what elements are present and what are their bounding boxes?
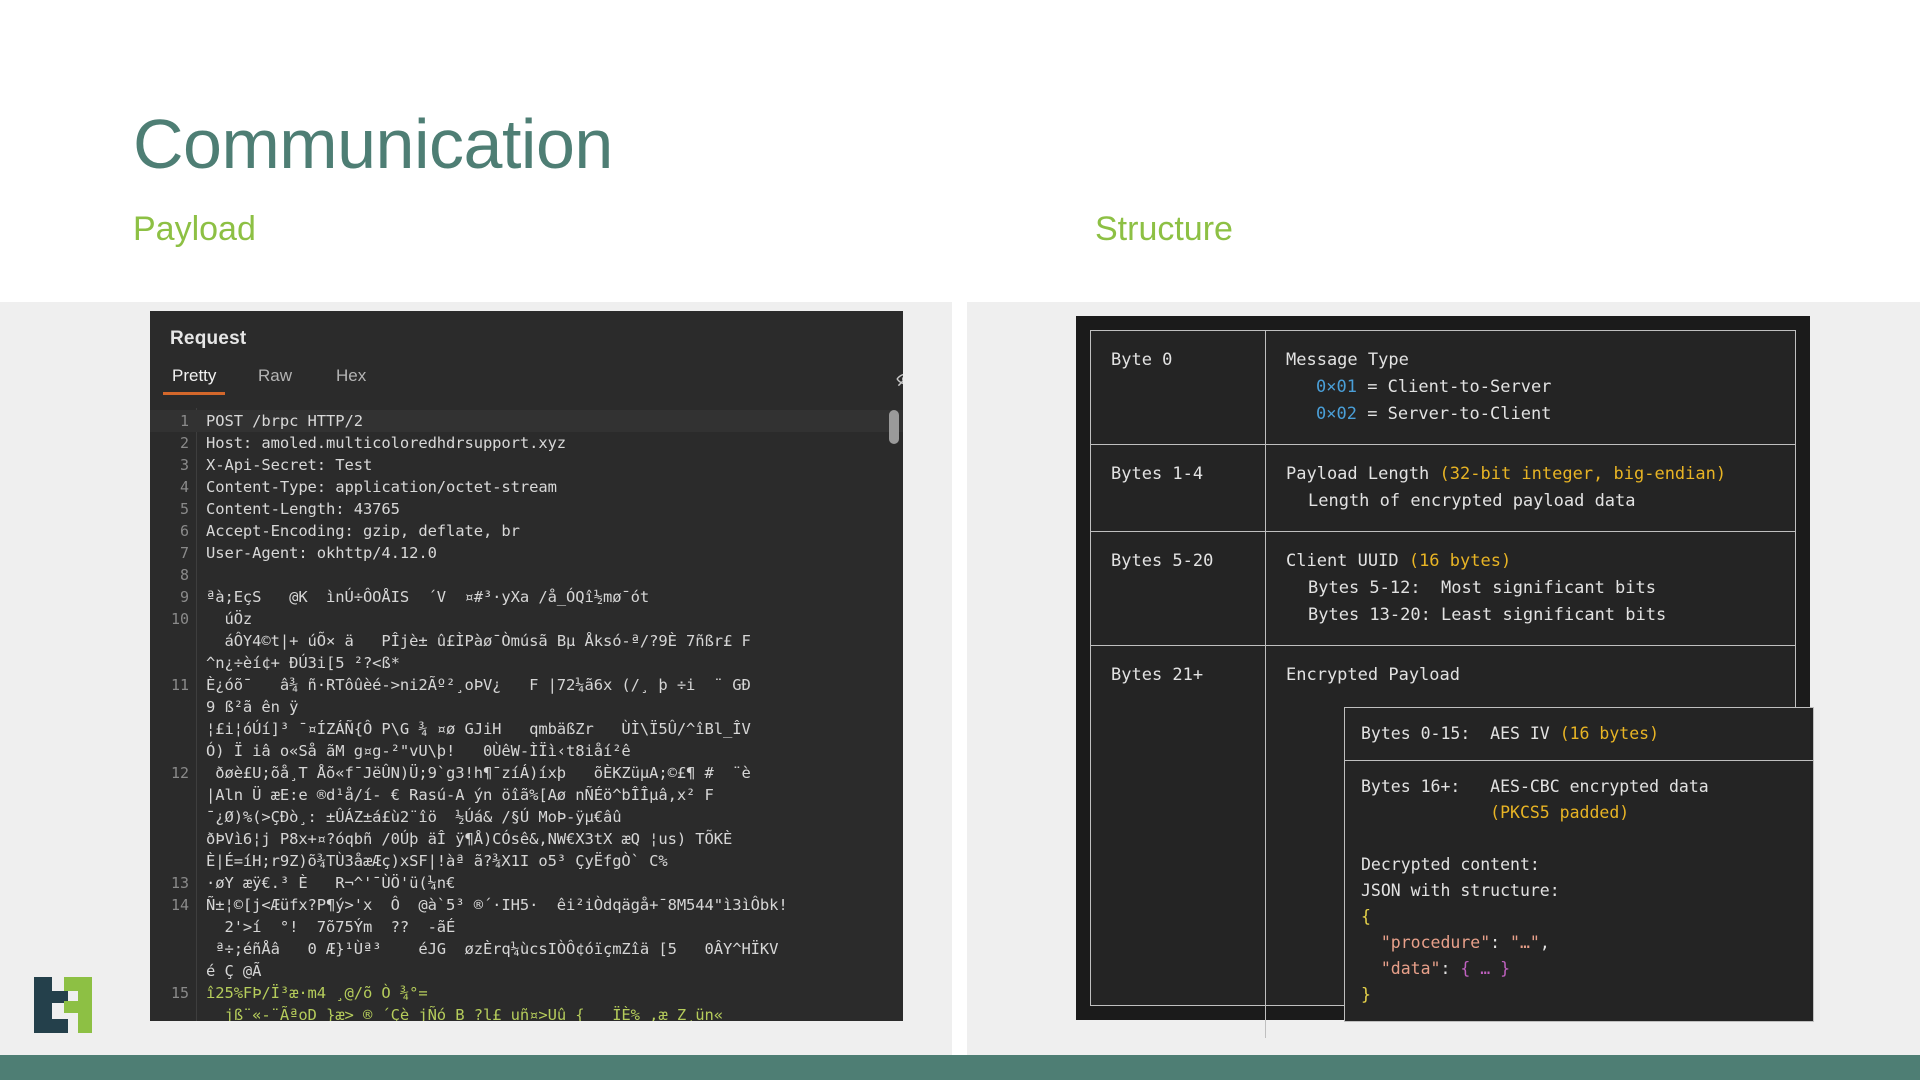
json-colon: : [1440, 959, 1460, 978]
field-title: Encrypted Payload [1286, 665, 1460, 685]
tab-pretty[interactable]: Pretty [172, 366, 216, 395]
line-content: ·øY æÿ€.³ È R¬^'¯ÙÖ'ü(¼n€ [196, 872, 903, 894]
json-close-brace: } [1361, 985, 1371, 1004]
footer-band [0, 1055, 1920, 1080]
line-number: 4 [150, 476, 196, 498]
line-number: 15 [150, 982, 196, 1004]
aes-cbc-row: Bytes 16+: AES-CBC encrypted data (PKCS5… [1345, 761, 1813, 1021]
json-key-procedure: "procedure" [1381, 933, 1490, 952]
field-description: Client UUID (16 bytes)Bytes 5-12: Most s… [1266, 532, 1795, 645]
request-code-area[interactable]: 1POST /brpc HTTP/22Host: amoled.multicol… [150, 408, 903, 1021]
code-scrollbar-thumb[interactable] [889, 410, 899, 444]
json-comma: , [1540, 933, 1550, 952]
line-number: 11 [150, 674, 196, 696]
line-content: Accept-Encoding: gzip, deflate, br [196, 520, 903, 542]
tab-hex[interactable]: Hex [336, 366, 366, 395]
code-line: 2Host: amoled.multicoloredhdrsupport.xyz [150, 432, 903, 454]
code-line: 12 ðøè£U;õå¸T Åõ«f¯JëÛN)Ü;9`g3!h¶¯zíÁ)íx… [150, 762, 903, 872]
json-key-data: "data" [1381, 959, 1441, 978]
code-line: 3X-Api-Secret: Test [150, 454, 903, 476]
code-line: 13·øY æÿ€.³ È R¬^'¯ÙÖ'ü(¼n€ [150, 872, 903, 894]
field-title: Message Type [1286, 350, 1409, 370]
json-colon: : [1490, 933, 1510, 952]
field-description: Message Type0×01 = Client-to-Server0×02 … [1266, 331, 1795, 444]
line-number: 12 [150, 762, 196, 784]
json-indent [1361, 959, 1381, 978]
field-title: Payload Length [1286, 464, 1440, 484]
code-line: 9ªà;EçS @K ìnÚ÷ÔOÅIS ´V ¤#³·yXa /å_ÓQî½m… [150, 586, 903, 608]
json-value-procedure: "…" [1510, 933, 1540, 952]
line-number: 13 [150, 872, 196, 894]
structure-row: Bytes 1-4Payload Length (32-bit integer,… [1091, 445, 1795, 532]
pkcs5-note: (PKCS5 padded) [1490, 803, 1629, 822]
detail-text: = Client-to-Server [1357, 377, 1551, 397]
field-title: Client UUID [1286, 551, 1409, 571]
json-structure-label: JSON with structure: [1361, 881, 1560, 900]
code-line: 4Content-Type: application/octet-stream [150, 476, 903, 498]
field-detail-line: Bytes 13-20: Least significant bits [1286, 602, 1781, 629]
code-line: 15î25%FÞ/Ï³æ·m4 ¸@/õ Ò ¾°= jß¨«-¨ÃªoD }æ… [150, 982, 903, 1021]
byte-range-label: Bytes 1-4 [1091, 445, 1266, 531]
tab-raw[interactable]: Raw [258, 366, 292, 395]
byte-range-label: Bytes 21+ [1091, 646, 1266, 1038]
field-note: (16 bytes) [1409, 551, 1511, 571]
line-content: X-Api-Secret: Test [196, 454, 903, 476]
structure-row: Bytes 5-20Client UUID (16 bytes)Bytes 5-… [1091, 532, 1795, 646]
line-content: Content-Length: 43765 [196, 498, 903, 520]
line-number: 10 [150, 608, 196, 630]
json-value-data: { … } [1460, 959, 1510, 978]
protocol-structure-panel: Byte 0Message Type0×01 = Client-to-Serve… [1076, 316, 1810, 1020]
detail-text: Length of encrypted payload data [1308, 491, 1636, 511]
field-description: Payload Length (32-bit integer, big-endi… [1266, 445, 1795, 531]
burp-tab-bar: Pretty Raw Hex [150, 366, 903, 404]
aes-cbc-line: Bytes 16+: AES-CBC encrypted data [1361, 777, 1709, 796]
line-number: 1 [150, 410, 196, 432]
line-content: Ñ±¦©[j<Æüfx?P¶ý>'x Ô @à`5³ ®´·IH5· êi²iÒ… [196, 894, 903, 982]
hex-value: 0×01 [1316, 377, 1357, 397]
code-line: 14Ñ±¦©[j<Æüfx?P¶ý>'x Ô @à`5³ ®´·IH5· êi²… [150, 894, 903, 982]
line-number: 8 [150, 564, 196, 586]
section-heading-structure: Structure [1095, 210, 1233, 249]
request-panel-title: Request [170, 328, 246, 350]
byte-range-label: Byte 0 [1091, 331, 1266, 444]
byte-range-label: Bytes 5-20 [1091, 532, 1266, 645]
line-content: úÖz áÔY4©t|+ úÕ× ä PÎjè± û£ÌPàø¯Òmúsã Bµ… [196, 608, 903, 674]
json-open-brace: { [1361, 907, 1371, 926]
code-line: 6Accept-Encoding: gzip, deflate, br [150, 520, 903, 542]
detail-text: Bytes 5-12: Most significant bits [1308, 578, 1656, 598]
detail-text: = Server-to-Client [1357, 404, 1551, 424]
line-number: 3 [150, 454, 196, 476]
aes-iv-row: Bytes 0-15: AES IV (16 bytes) [1345, 708, 1813, 761]
line-number: 5 [150, 498, 196, 520]
line-content: È¿óõ¯ â¾ ñ·RTôûèé->ni2Ãº²¸oÞV¿ F |72¼ã6x… [196, 674, 903, 762]
line-content: ðøè£U;õå¸T Åõ«f¯JëÛN)Ü;9`g3!h¶¯zíÁ)íxþ õ… [196, 762, 903, 872]
section-heading-payload: Payload [133, 210, 256, 249]
line-number: 7 [150, 542, 196, 564]
json-indent [1361, 933, 1381, 952]
line-content: î25%FÞ/Ï³æ·m4 ¸@/õ Ò ¾°= jß¨«-¨ÃªoD }æ> … [196, 982, 903, 1021]
aes-iv-label: Bytes 0-15: AES IV [1361, 724, 1560, 743]
decrypted-content-label: Decrypted content: [1361, 855, 1540, 874]
code-lines-container: 1POST /brpc HTTP/22Host: amoled.multicol… [150, 410, 903, 1021]
code-line: 7User-Agent: okhttp/4.12.0 [150, 542, 903, 564]
code-line: 5Content-Length: 43765 [150, 498, 903, 520]
brand-logo [34, 977, 96, 1035]
line-number: 14 [150, 894, 196, 916]
field-detail-line: Bytes 5-12: Most significant bits [1286, 575, 1781, 602]
field-description: Encrypted PayloadBytes 0-15: AES IV (16 … [1266, 646, 1828, 1038]
code-line: 8 [150, 564, 903, 586]
field-detail-line: Length of encrypted payload data [1286, 488, 1781, 515]
code-line: 11È¿óõ¯ â¾ ñ·RTôûèé->ni2Ãº²¸oÞV¿ F |72¼ã… [150, 674, 903, 762]
line-content: POST /brpc HTTP/2 [196, 410, 903, 432]
code-line: 1POST /brpc HTTP/2 [150, 410, 903, 432]
line-content: User-Agent: okhttp/4.12.0 [196, 542, 903, 564]
line-number: 9 [150, 586, 196, 608]
code-scrollbar-track[interactable] [891, 408, 901, 1021]
field-detail-line: 0×01 = Client-to-Server [1286, 374, 1781, 401]
padding-spacer [1361, 803, 1490, 822]
line-number: 6 [150, 520, 196, 542]
slide-root: Communication Payload Structure Request … [0, 0, 1920, 1080]
structure-row: Byte 0Message Type0×01 = Client-to-Serve… [1091, 331, 1795, 445]
structure-row: Bytes 21+Encrypted PayloadBytes 0-15: AE… [1091, 646, 1795, 1038]
eye-slash-icon[interactable] [892, 366, 903, 392]
line-content: Content-Type: application/octet-stream [196, 476, 903, 498]
field-note: (32-bit integer, big-endian) [1440, 464, 1727, 484]
encrypted-payload-detail-box: Bytes 0-15: AES IV (16 bytes)Bytes 16+: … [1344, 707, 1814, 1022]
aes-iv-note: (16 bytes) [1560, 724, 1659, 743]
line-content: Host: amoled.multicoloredhdrsupport.xyz [196, 432, 903, 454]
detail-text: Bytes 13-20: Least significant bits [1308, 605, 1666, 625]
structure-table: Byte 0Message Type0×01 = Client-to-Serve… [1090, 330, 1796, 1006]
line-number: 2 [150, 432, 196, 454]
code-line: 10 úÖz áÔY4©t|+ úÕ× ä PÎjè± û£ÌPàø¯Òmúsã… [150, 608, 903, 674]
line-content: ªà;EçS @K ìnÚ÷ÔOÅIS ´V ¤#³·yXa /å_ÓQî½mø… [196, 586, 903, 608]
page-title: Communication [133, 107, 613, 183]
hex-value: 0×02 [1316, 404, 1357, 424]
field-detail-line: 0×02 = Server-to-Client [1286, 401, 1781, 428]
burp-request-panel: Request Pretty Raw Hex \n ≡ 1POS [150, 311, 903, 1021]
